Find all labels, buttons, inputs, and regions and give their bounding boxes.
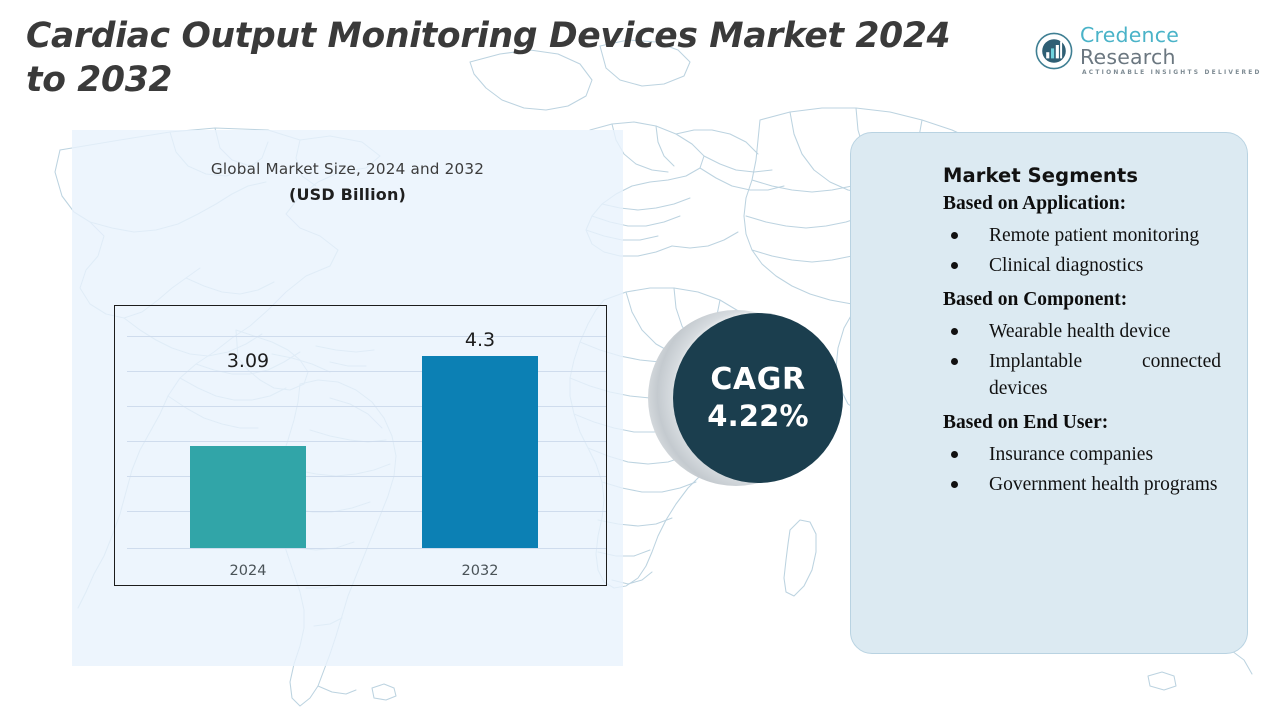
segment-heading-application: Based on Application: [943, 189, 1221, 218]
chart-caption: Global Market Size, 2024 and 2032 (USD B… [72, 160, 623, 204]
segment-group-application: Based on Application: Remote patient mon… [943, 189, 1221, 279]
chart-caption-line1: Global Market Size, 2024 and 2032 [211, 160, 484, 178]
list-item: Government health programs [943, 471, 1221, 498]
list-item: Wearable health device [943, 318, 1221, 345]
segment-list-component: Wearable health device Implantable conne… [943, 318, 1221, 402]
bar-category-2032: 2032 [462, 563, 499, 579]
list-item: Insurance companies [943, 441, 1221, 468]
bullet-icon [951, 232, 958, 239]
infographic-canvas: Cardiac Output Monitoring Devices Market… [0, 0, 1280, 720]
bar-rect-2032 [422, 356, 538, 548]
list-item: Clinical diagnostics [943, 252, 1221, 279]
logo-name: Credence Research [1080, 24, 1280, 68]
bar-chart-plot: 3.09 2024 4.3 2032 [114, 305, 607, 586]
list-item-label: Implantable connected devices [989, 351, 1221, 399]
logo-name-second: Research [1080, 45, 1176, 69]
segment-heading-component: Based on Component: [943, 285, 1221, 314]
cagr-label: CAGR [710, 363, 805, 397]
bullet-icon [951, 328, 958, 335]
segment-list-application: Remote patient monitoring Clinical diagn… [943, 222, 1221, 279]
bullet-icon [951, 481, 958, 488]
page-title: Cardiac Output Monitoring Devices Market… [26, 14, 1026, 102]
market-size-chart-panel: Global Market Size, 2024 and 2032 (USD B… [72, 130, 623, 666]
brand-logo: Credence Research Actionable Insights De… [1035, 24, 1280, 77]
logo-wordmark: Credence Research Actionable Insights De… [1080, 24, 1280, 77]
list-item-label: Clinical diagnostics [989, 255, 1143, 276]
list-item: Implantable connected devices [943, 348, 1221, 402]
chart-caption-unit: (USD Billion) [72, 185, 623, 204]
bar-value-2024: 3.09 [227, 350, 269, 372]
bar-2024: 3.09 2024 [190, 377, 306, 548]
list-item-label: Government health programs [989, 474, 1218, 495]
bar-category-2024: 2024 [230, 563, 267, 579]
segment-heading-end-user: Based on End User: [943, 408, 1221, 437]
list-item: Remote patient monitoring [943, 222, 1221, 249]
segment-list-end-user: Insurance companies Government health pr… [943, 441, 1221, 498]
list-item-label: Insurance companies [989, 444, 1153, 465]
list-item-label: Wearable health device [989, 321, 1170, 342]
bullet-icon [951, 262, 958, 269]
segment-group-end-user: Based on End User: Insurance companies G… [943, 408, 1221, 498]
segment-group-component: Based on Component: Wearable health devi… [943, 285, 1221, 402]
cagr-badge: CAGR 4.22% [648, 310, 860, 490]
logo-tagline: Actionable Insights Delivered [1082, 69, 1280, 77]
cagr-value: 4.22% [707, 399, 809, 433]
list-item-label: Remote patient monitoring [989, 225, 1199, 246]
logo-name-first: Credence [1080, 23, 1179, 47]
bar-chart-circle-icon [1035, 32, 1073, 70]
segments-title: Market Segments [943, 163, 1221, 189]
cagr-circle: CAGR 4.22% [673, 313, 843, 483]
bar-value-2032: 4.3 [465, 329, 495, 351]
gridline [127, 548, 606, 549]
bar-rect-2024 [190, 446, 306, 548]
market-segments-panel: Market Segments Based on Application: Re… [850, 132, 1248, 654]
bullet-icon [951, 358, 958, 365]
bar-2032: 4.3 2032 [422, 318, 538, 548]
bullet-icon [951, 451, 958, 458]
